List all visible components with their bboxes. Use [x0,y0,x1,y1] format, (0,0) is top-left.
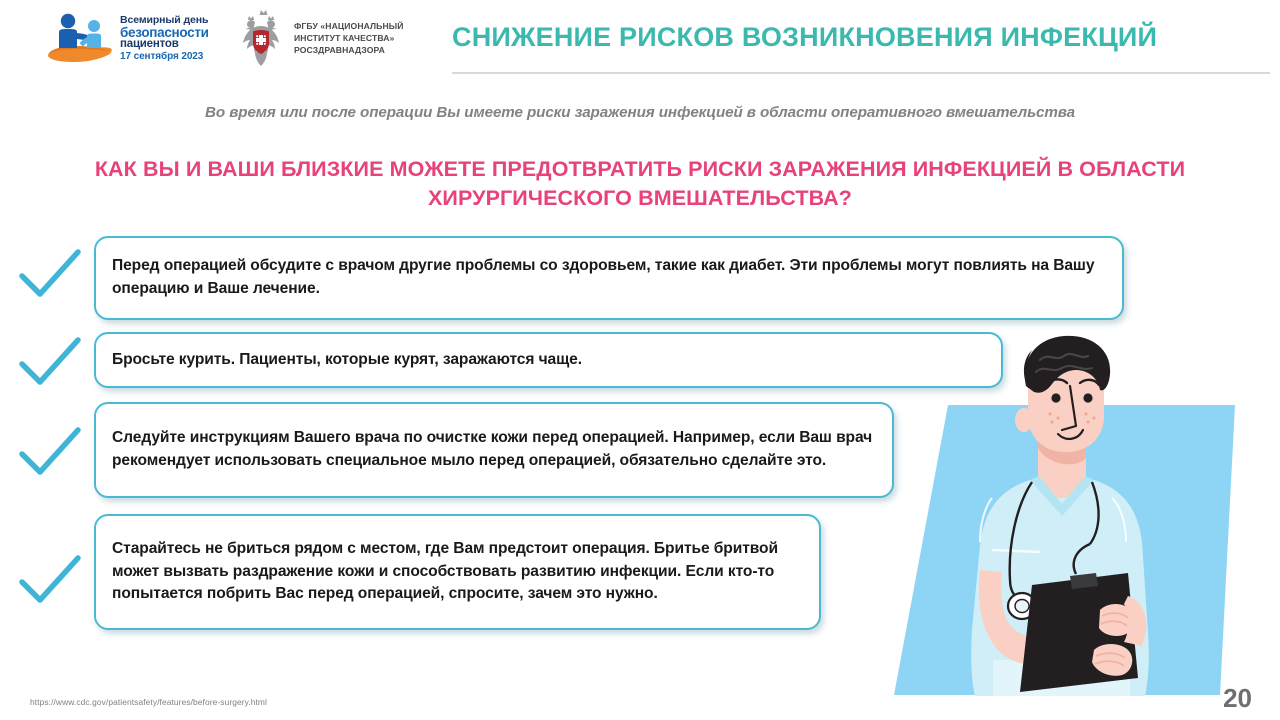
source-url[interactable]: https://www.cdc.gov/patientsafety/featur… [30,697,267,707]
bullet-bubble: Следуйте инструкциям Вашего врача по очи… [94,402,894,498]
page-number: 20 [1223,683,1252,714]
bullet-bubble: Бросьте курить. Пациенты, которые курят,… [94,332,1003,388]
bullet-text: Перед операцией обсудите с врачом другие… [112,255,1106,301]
slide-canvas: Всемирный день безопасности пациентов 17… [0,0,1280,720]
bullet-text: Бросьте курить. Пациенты, которые курят,… [112,349,582,372]
bullet-text: Следуйте инструкциям Вашего врача по очи… [112,427,876,473]
checkmark-icon [18,246,84,308]
checkmark-icon [18,334,84,396]
bullet-text: Старайтесь не бриться рядом с местом, гд… [112,538,803,606]
checkmark-icon [18,552,84,614]
bullet-bubble: Старайтесь не бриться рядом с местом, гд… [94,514,821,630]
checkmark-icon [18,424,84,486]
bullet-bubble: Перед операцией обсудите с врачом другие… [94,236,1124,320]
doctor-with-clipboard-illustration [880,330,1280,720]
